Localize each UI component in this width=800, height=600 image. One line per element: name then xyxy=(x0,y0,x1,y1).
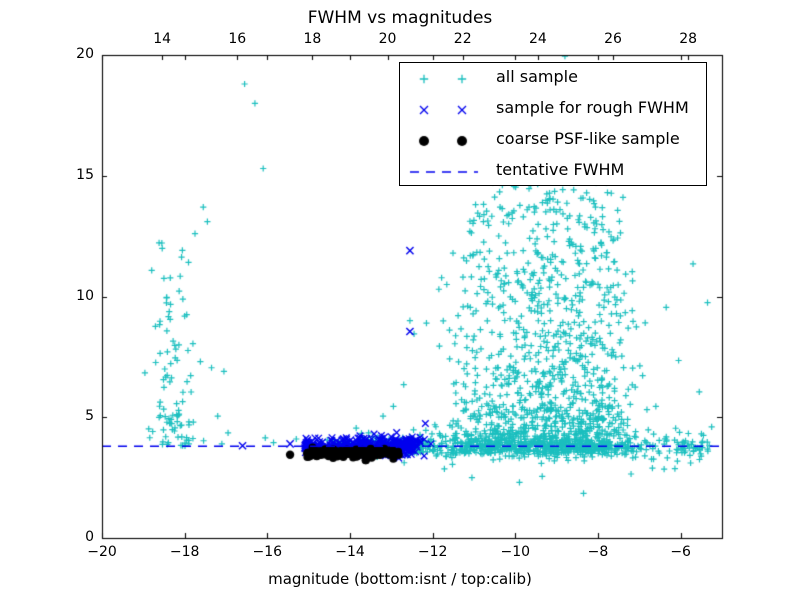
legend: all sample sample for rough FWHM coarse … xyxy=(399,62,707,186)
x-tick-label-bottom: −20 xyxy=(72,544,132,560)
dashed-line-icon xyxy=(400,156,490,187)
cross-icon xyxy=(400,94,490,125)
y-tick-label: 10 xyxy=(54,288,94,304)
x-tick-label-bottom: −14 xyxy=(320,544,380,560)
legend-item-psf-sample[interactable]: coarse PSF-like sample xyxy=(400,125,706,156)
x-tick-label-top: 24 xyxy=(508,31,568,47)
x-tick-label-bottom: −10 xyxy=(485,544,545,560)
y-tick-label: 20 xyxy=(54,46,94,62)
x-axis-label: magnitude (bottom:isnt / top:calib) xyxy=(0,570,800,588)
legend-item-tentative-fwhm[interactable]: tentative FWHM xyxy=(400,156,706,187)
x-tick-label-top: 28 xyxy=(658,31,718,47)
legend-item-all-sample[interactable]: all sample xyxy=(400,63,706,94)
x-tick-label-top: 16 xyxy=(207,31,267,47)
x-tick-label-top: 26 xyxy=(583,31,643,47)
x-tick-label-bottom: −6 xyxy=(651,544,711,560)
dot-icon xyxy=(400,125,490,156)
legend-item-label: all sample xyxy=(496,67,578,86)
x-tick-label-bottom: −16 xyxy=(237,544,297,560)
x-tick-label-bottom: −18 xyxy=(155,544,215,560)
x-tick-label-top: 20 xyxy=(358,31,418,47)
x-tick-label-top: 22 xyxy=(433,31,493,47)
x-tick-label-bottom: −12 xyxy=(403,544,463,560)
page-title: FWHM vs magnitudes xyxy=(0,8,800,28)
x-tick-label-top: 14 xyxy=(132,31,192,47)
legend-item-label: sample for rough FWHM xyxy=(496,98,689,117)
figure-canvas-container: FWHM vs magnitudes magnitude (bottom:isn… xyxy=(0,0,800,600)
plus-icon xyxy=(400,63,490,94)
legend-item-label: tentative FWHM xyxy=(496,160,624,179)
y-tick-label: 15 xyxy=(54,167,94,183)
x-tick-label-bottom: −8 xyxy=(568,544,628,560)
x-tick-label-top: 18 xyxy=(282,31,342,47)
y-tick-label: 0 xyxy=(54,529,94,545)
y-tick-label: 5 xyxy=(54,408,94,424)
legend-item-rough-fwhm[interactable]: sample for rough FWHM xyxy=(400,94,706,125)
legend-item-label: coarse PSF-like sample xyxy=(496,129,680,148)
